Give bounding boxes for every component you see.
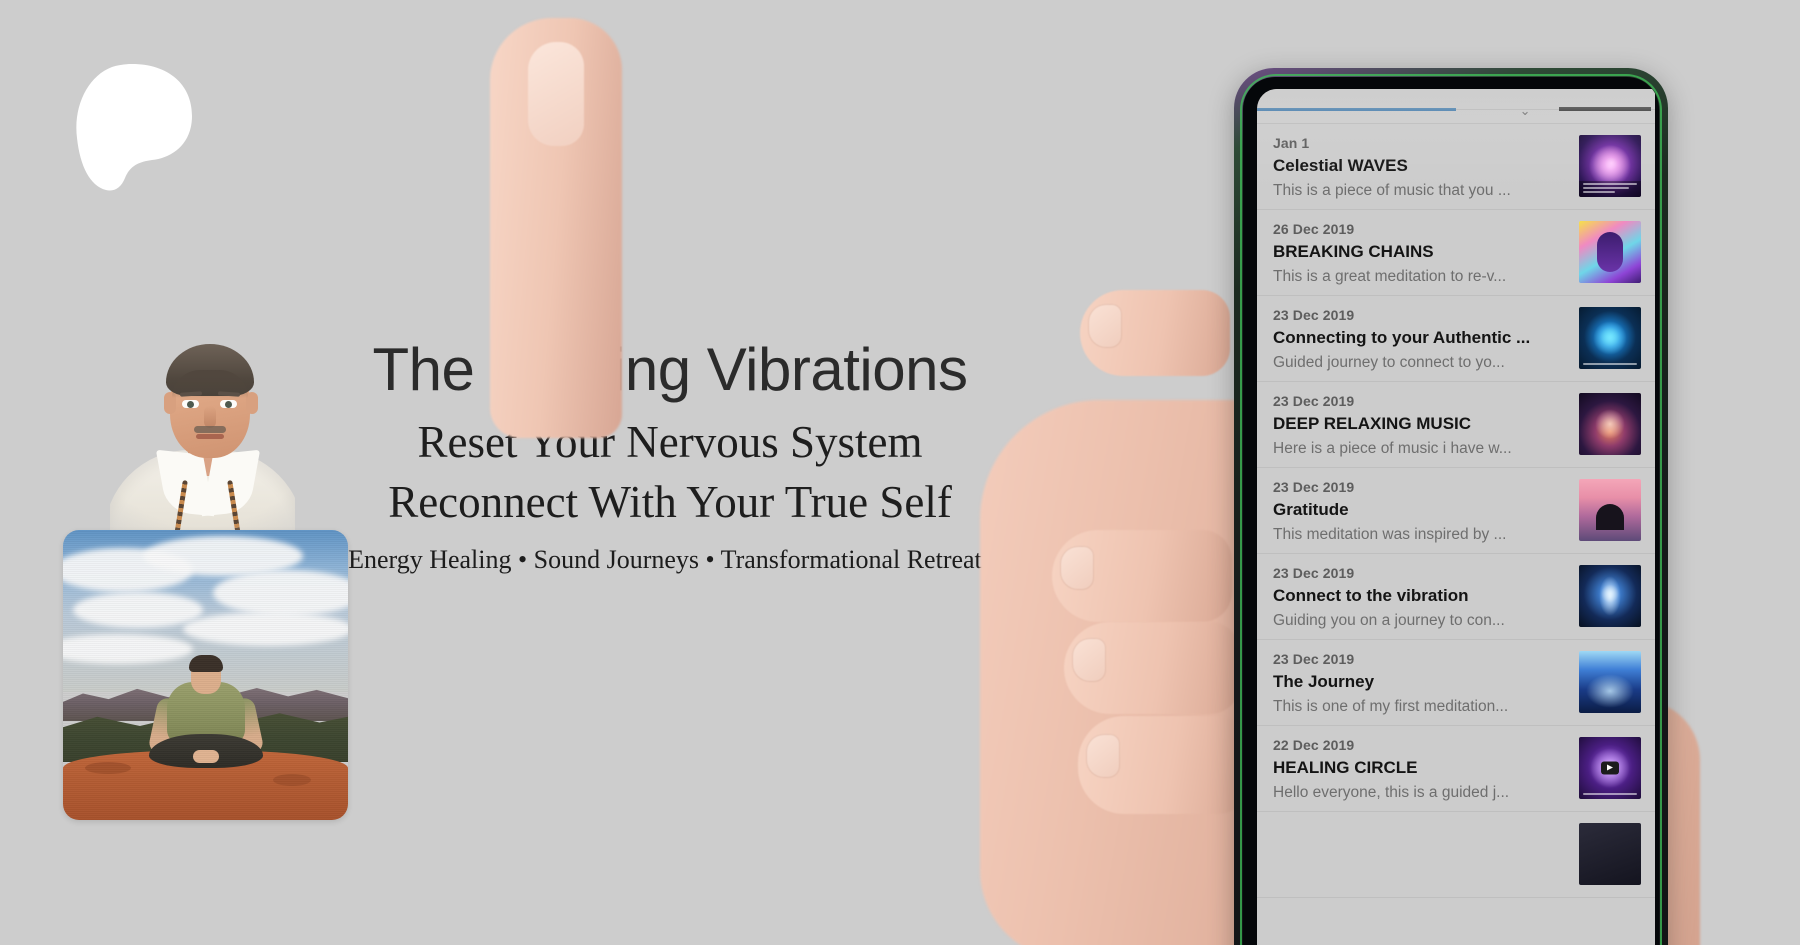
hero-tagline: Energy Healing • Sound Journeys • Transf…	[330, 545, 1010, 575]
post-text: 23 Dec 2019 DEEP RELAXING MUSIC Here is …	[1273, 393, 1579, 460]
portrait-photo	[110, 330, 295, 530]
patreon-blob-logo[interactable]	[72, 62, 194, 192]
post-text: Jan 1 Celestial WAVES This is a piece of…	[1273, 135, 1579, 202]
post-date: 23 Dec 2019	[1273, 651, 1569, 668]
post-title: Celestial WAVES	[1273, 155, 1569, 178]
phone-screen[interactable]: Published Drafts ⌄ Jan 1 Celestial WAVES…	[1257, 89, 1655, 945]
thumbnail-glow	[1597, 232, 1623, 272]
post-text: 22 Dec 2019 HEALING CIRCLE Hello everyon…	[1273, 737, 1579, 804]
fingernail	[1088, 304, 1122, 348]
list-item[interactable]: Jan 1 Celestial WAVES This is a piece of…	[1257, 124, 1655, 210]
thumbnail-glow	[1586, 674, 1634, 708]
thumbnail-glow	[1599, 576, 1621, 616]
rock	[85, 762, 131, 774]
post-date: 23 Dec 2019	[1273, 393, 1569, 410]
post-thumbnail[interactable]	[1579, 651, 1641, 713]
meditation-photo	[63, 530, 348, 820]
patreon-blob-icon	[72, 62, 194, 192]
tab-bar[interactable]: Published Drafts	[1257, 89, 1655, 109]
fingernail	[1072, 638, 1106, 682]
smartphone-device: Published Drafts ⌄ Jan 1 Celestial WAVES…	[1234, 68, 1668, 945]
post-list[interactable]: Jan 1 Celestial WAVES This is a piece of…	[1257, 124, 1655, 945]
post-text: 23 Dec 2019 Connect to the vibration Gui…	[1273, 565, 1579, 632]
post-description: This meditation was inspired by ...	[1273, 525, 1569, 546]
page-root: The Healing Vibrations Reset Your Nervou…	[0, 0, 1800, 945]
list-item[interactable]: 23 Dec 2019 Gratitude This meditation wa…	[1257, 468, 1655, 554]
thumbnail-nail	[528, 42, 584, 146]
thumbnail-caption-lines	[1583, 363, 1637, 365]
portrait-vignette	[110, 330, 295, 530]
fingernail	[1086, 734, 1120, 778]
post-thumbnail[interactable]	[1579, 135, 1641, 197]
post-thumbnail[interactable]	[1579, 479, 1641, 541]
post-title: Gratitude	[1273, 499, 1569, 522]
thumbnail-glow	[1593, 321, 1627, 355]
thumbnail-glow	[1596, 504, 1624, 530]
post-title: The Journey	[1273, 671, 1569, 694]
post-thumbnail[interactable]	[1579, 307, 1641, 369]
phone-body: Published Drafts ⌄ Jan 1 Celestial WAVES…	[1243, 77, 1659, 945]
figure-foot	[193, 750, 219, 763]
figure-hair	[189, 655, 223, 672]
post-description: Guiding you on a journey to con...	[1273, 611, 1569, 632]
post-date: Jan 1	[1273, 135, 1569, 152]
list-item[interactable]: 26 Dec 2019 BREAKING CHAINS This is a gr…	[1257, 210, 1655, 296]
portrait-canvas	[110, 330, 295, 530]
post-date: 22 Dec 2019	[1273, 737, 1569, 754]
post-description: This is a great meditation to re-v...	[1273, 267, 1569, 288]
post-thumbnail[interactable]	[1579, 393, 1641, 455]
meditating-figure	[147, 658, 265, 768]
list-item[interactable]: 23 Dec 2019 Connect to the vibration Gui…	[1257, 554, 1655, 640]
hero-text-block: The Healing Vibrations Reset Your Nervou…	[330, 340, 1010, 575]
post-description: Here is a piece of music i have w...	[1273, 439, 1569, 460]
post-date: 23 Dec 2019	[1273, 479, 1569, 496]
post-title: HEALING CIRCLE	[1273, 757, 1569, 780]
chevron-down-icon[interactable]: ⌄	[1520, 103, 1531, 119]
post-thumbnail[interactable]	[1579, 565, 1641, 627]
cloud	[183, 612, 348, 646]
post-title: DEEP RELAXING MUSIC	[1273, 413, 1569, 436]
post-thumbnail[interactable]	[1579, 737, 1641, 799]
post-text: 23 Dec 2019 The Journey This is one of m…	[1273, 651, 1579, 718]
post-text: 23 Dec 2019 Gratitude This meditation wa…	[1273, 479, 1579, 546]
thumbnail-caption-lines	[1583, 793, 1637, 795]
tab-active-underline	[1257, 108, 1456, 111]
post-text: 23 Dec 2019 Connecting to your Authentic…	[1273, 307, 1579, 374]
post-date: 23 Dec 2019	[1273, 565, 1569, 582]
list-item[interactable]: 23 Dec 2019 Connecting to your Authentic…	[1257, 296, 1655, 382]
hero-subtitle-line-1: Reset Your Nervous System	[330, 414, 1010, 472]
post-text: 26 Dec 2019 BREAKING CHAINS This is a gr…	[1273, 221, 1579, 288]
post-description: Guided journey to connect to yo...	[1273, 353, 1569, 374]
post-description: This is a piece of music that you ...	[1273, 181, 1569, 202]
post-title: Connect to the vibration	[1273, 585, 1569, 608]
rock	[273, 774, 311, 786]
hero-subtitle-line-2: Reconnect With Your True Self	[330, 474, 1010, 532]
tab-published[interactable]: Published	[1257, 89, 1456, 93]
thumbnail-caption-lines	[1583, 183, 1637, 193]
page-title: The Healing Vibrations	[330, 340, 1010, 400]
drafts-accent-bar	[1559, 107, 1651, 111]
list-item[interactable]	[1257, 812, 1655, 898]
cloud	[73, 592, 203, 628]
post-title: BREAKING CHAINS	[1273, 241, 1569, 264]
fingernail	[1060, 546, 1094, 590]
list-item[interactable]: 22 Dec 2019 HEALING CIRCLE Hello everyon…	[1257, 726, 1655, 812]
post-title: Connecting to your Authentic ...	[1273, 327, 1569, 350]
tab-drafts[interactable]: Drafts	[1456, 89, 1655, 93]
thumbnail-glow	[1595, 409, 1625, 439]
play-icon[interactable]	[1601, 762, 1619, 775]
list-item[interactable]: 23 Dec 2019 The Journey This is one of m…	[1257, 640, 1655, 726]
post-description: This is one of my first meditation...	[1273, 697, 1569, 718]
post-description: Hello everyone, this is a guided j...	[1273, 783, 1569, 804]
post-date: 26 Dec 2019	[1273, 221, 1569, 238]
post-date: 23 Dec 2019	[1273, 307, 1569, 324]
list-item[interactable]: 23 Dec 2019 DEEP RELAXING MUSIC Here is …	[1257, 382, 1655, 468]
post-thumbnail[interactable]	[1579, 221, 1641, 283]
post-thumbnail[interactable]	[1579, 823, 1641, 885]
